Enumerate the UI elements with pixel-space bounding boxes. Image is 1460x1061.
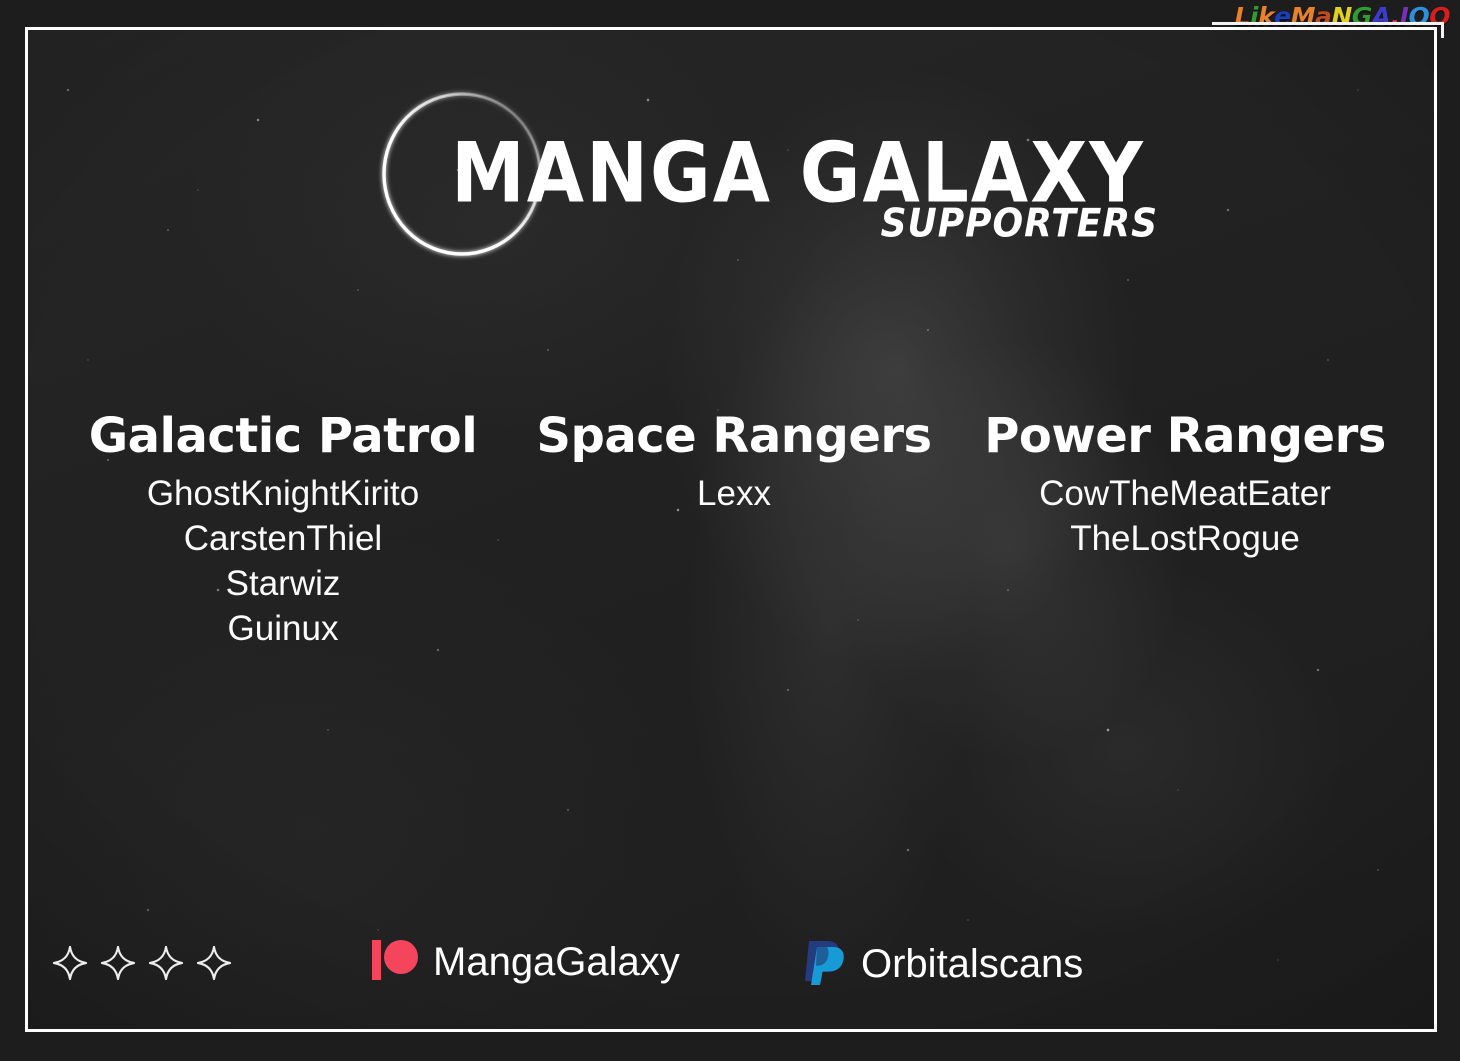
tier-title: Galactic Patrol	[58, 405, 508, 467]
supporter-name: Guinux	[58, 606, 508, 651]
tier-title: Power Rangers	[960, 405, 1410, 467]
tier-space-rangers: Space Rangers Lexx	[514, 405, 954, 516]
tier-name-list: CowTheMeatEater TheLostRogue	[960, 471, 1410, 561]
sparkle-row	[52, 945, 232, 981]
paypal-icon	[803, 937, 847, 990]
watermark-letter: i	[1250, 2, 1258, 32]
tier-galactic-patrol: Galactic Patrol GhostKnightKirito Carste…	[58, 405, 508, 651]
watermark-letter: k	[1258, 2, 1274, 32]
supporter-name: CarstenThiel	[58, 516, 508, 561]
supporter-name: TheLostRogue	[960, 516, 1410, 561]
watermark-letter: M	[1291, 2, 1315, 32]
logo-block: MANGA GALAXY SUPPORTERS	[428, 130, 1168, 242]
tier-title: Space Rangers	[514, 405, 954, 467]
sparkle-icon	[100, 945, 136, 981]
sparkle-icon	[52, 945, 88, 981]
watermark-letter: .	[1391, 2, 1400, 32]
header: MANGA GALAXY SUPPORTERS	[28, 78, 1434, 278]
sparkle-icon	[148, 945, 184, 981]
brand-paypal[interactable]: Orbitalscans	[803, 937, 1083, 990]
brand-label: MangaGalaxy	[433, 937, 680, 987]
brand-label: Orbitalscans	[861, 939, 1083, 989]
watermark-letters: LikeMaNGA.IOO	[1234, 2, 1450, 32]
card-frame: MANGA GALAXY SUPPORTERS Galactic Patrol …	[25, 27, 1437, 1032]
patreon-icon	[371, 938, 419, 987]
page-subtitle: SUPPORTERS	[428, 204, 1168, 245]
footer: MangaGalaxy Orbitalscans	[28, 935, 1434, 1007]
watermark-tick-line	[1441, 22, 1444, 38]
brand-patreon[interactable]: MangaGalaxy	[371, 937, 680, 987]
watermark-letter: L	[1234, 2, 1249, 32]
likemanga-watermark: LikeMaNGA.IOO	[1234, 2, 1450, 32]
watermark-letter: A	[1372, 2, 1391, 32]
watermark-letter: a	[1315, 2, 1331, 32]
supporter-name: Starwiz	[58, 561, 508, 606]
supporter-name: CowTheMeatEater	[960, 471, 1410, 516]
watermark-letter: e	[1274, 2, 1290, 32]
watermark-letter: G	[1352, 2, 1372, 32]
supporter-name: Lexx	[514, 471, 954, 516]
tier-name-list: GhostKnightKirito CarstenThiel Starwiz G…	[58, 471, 508, 651]
supporter-name: GhostKnightKirito	[58, 471, 508, 516]
watermark-strike-line	[1212, 22, 1444, 25]
sparkle-icon	[196, 945, 232, 981]
supporter-tiers: Galactic Patrol GhostKnightKirito Carste…	[58, 405, 1410, 651]
supporters-card: LikeMaNGA.IOO	[0, 0, 1460, 1061]
tier-power-rangers: Power Rangers CowTheMeatEater TheLostRog…	[960, 405, 1410, 561]
tier-name-list: Lexx	[514, 471, 954, 516]
watermark-letter: N	[1331, 2, 1351, 32]
watermark-letter: O	[1408, 2, 1429, 32]
watermark-letter: O	[1429, 2, 1450, 32]
